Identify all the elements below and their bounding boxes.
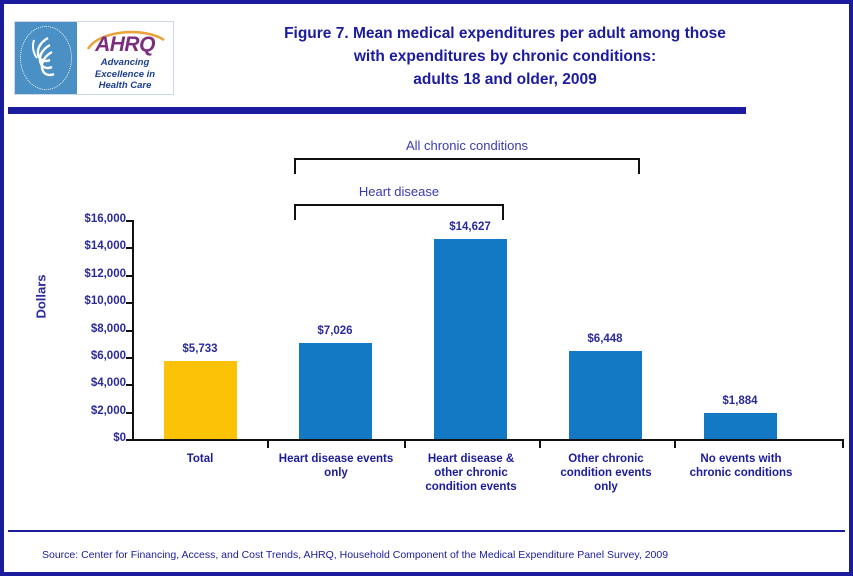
figure-title-line-1: Figure 7. Mean medical expenditures per … [190,22,820,45]
x-category-line: condition events [407,480,535,494]
y-tick-mark [126,330,132,332]
y-tick-label: $12,000 [40,269,126,281]
x-tick-mark [674,439,676,448]
bar-value-label: $5,733 [150,343,250,355]
y-tick-mark [126,439,132,441]
annotation-bracket-all-chronic [294,158,640,174]
hhs-seal-icon [15,22,77,94]
x-category-line: chronic conditions [677,466,805,480]
x-tick-mark [539,439,541,448]
bar-heart-disease-only[interactable] [299,343,372,439]
ahrq-tagline: Advancing Excellence in Health Care [77,57,173,92]
footer-divider [8,530,845,532]
y-tick-mark [126,247,132,249]
x-category-label-heart-disease-only: Heart disease events only [270,452,402,480]
annotation-label-heart-disease: Heart disease [294,184,504,199]
x-tick-mark [842,439,844,448]
y-tick-label: $14,000 [40,241,126,253]
x-tick-mark [404,439,406,448]
y-tick-label: $8,000 [40,324,126,336]
x-category-line: condition events [542,466,670,480]
x-category-label-total: Total [140,452,260,466]
ahrq-wordmark-block: AHRQ Advancing Excellence in Health Care [77,22,173,94]
x-category-line: other chronic [407,466,535,480]
figure-title-line-2: with expenditures by chronic conditions: [190,45,820,68]
bar-no-events-with-chronic[interactable] [704,413,777,439]
y-tick-mark [126,302,132,304]
y-tick-label: $4,000 [40,378,126,390]
y-tick-label: $6,000 [40,351,126,363]
x-category-line: only [542,480,670,494]
bar-total[interactable] [164,361,237,439]
x-category-line: Heart disease & [407,452,535,466]
y-tick-mark [126,384,132,386]
ahrq-tagline-line-1: Advancing [77,57,173,69]
bar-heart-disease-and-other-chronic[interactable] [434,239,507,439]
y-tick-mark [126,412,132,414]
bar-value-label: $6,448 [555,333,655,345]
y-tick-mark [126,275,132,277]
y-tick-label: $2,000 [40,406,126,418]
x-category-line: Total [140,452,260,466]
figure-page: AHRQ Advancing Excellence in Health Care… [0,0,853,576]
annotation-label-all-chronic: All chronic conditions [294,138,640,153]
bar-other-chronic-only[interactable] [569,351,642,439]
bar-value-label: $7,026 [285,325,385,337]
hhs-eagle-icon [28,36,64,82]
y-axis-line [132,220,134,440]
y-tick-mark [126,357,132,359]
x-category-line: No events with [677,452,805,466]
y-tick-label: $0 [40,433,126,445]
x-axis-line [132,439,844,441]
figure-title: Figure 7. Mean medical expenditures per … [190,22,820,91]
bar-chart: All chronic conditions Heart disease Dol… [4,114,849,524]
header-divider [8,107,746,114]
figure-title-line-3: adults 18 and older, 2009 [190,68,820,91]
x-category-line: Other chronic [542,452,670,466]
source-note: Source: Center for Financing, Access, an… [42,549,668,561]
x-tick-mark [267,439,269,448]
bar-value-label: $1,884 [690,395,790,407]
x-category-line: Heart disease events [270,452,402,466]
ahrq-tagline-line-2: Excellence in [77,69,173,81]
x-category-line: only [270,466,402,480]
figure-header: AHRQ Advancing Excellence in Health Care… [4,4,849,104]
y-tick-label: $10,000 [40,296,126,308]
x-category-label-other-chronic-only: Other chronic condition events only [542,452,670,494]
annotation-bracket-heart-disease [294,204,504,220]
ahrq-wordmark: AHRQ [77,34,173,55]
x-category-label-heart-and-other: Heart disease & other chronic condition … [407,452,535,494]
y-tick-mark [126,220,132,222]
bar-value-label: $14,627 [420,221,520,233]
x-category-label-no-events: No events with chronic conditions [677,452,805,480]
y-tick-label: $16,000 [40,214,126,226]
ahrq-logo: AHRQ Advancing Excellence in Health Care [14,21,174,95]
ahrq-tagline-line-3: Health Care [77,80,173,92]
